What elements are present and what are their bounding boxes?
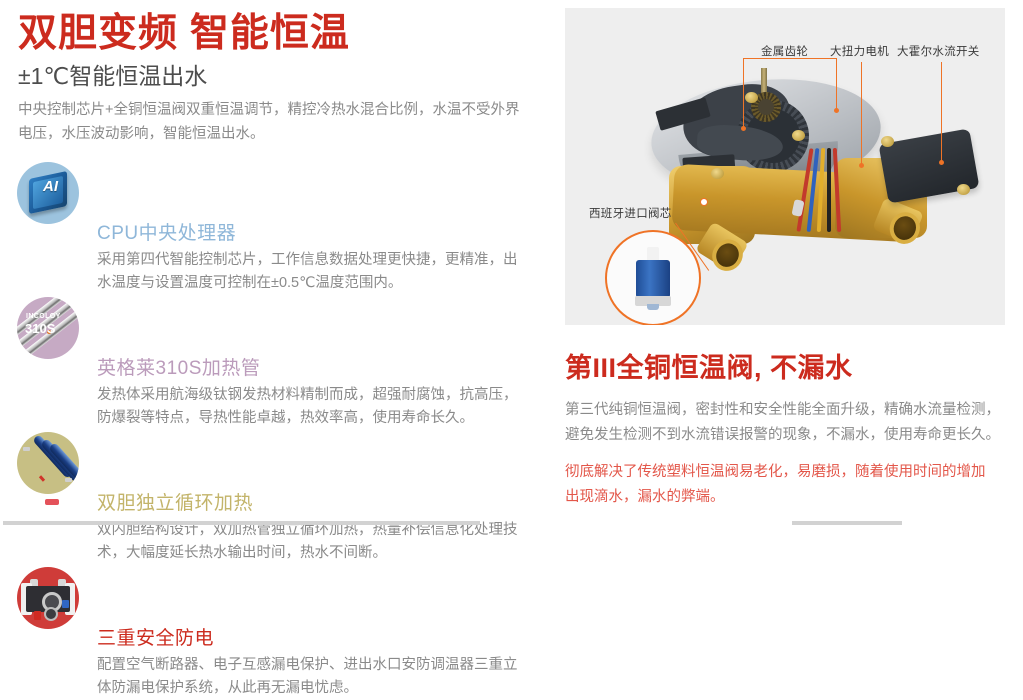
photo-artwork: 金属齿轮 大扭力电机 大霍尔水流开关 西班牙进口阀芯 bbox=[565, 8, 1005, 325]
valve-cartridge-part bbox=[636, 247, 670, 309]
water-heater-unit-icon bbox=[17, 567, 79, 629]
next-section-red-marker bbox=[45, 499, 59, 505]
cpu-icon-ai-label: AI bbox=[43, 178, 58, 195]
list-item-body: 三重安全防电 配置空气断路器、电子互感漏电保护、进出水口安防调温器三重立体防漏电… bbox=[97, 627, 545, 700]
callout-dot-high-torque-motor bbox=[859, 163, 864, 168]
list-item-body: CPU中央处理器 采用第四代智能控制芯片，工作信息数据处理更快捷，更精准，出水温… bbox=[97, 222, 545, 295]
list-item: 三重安全防电 配置空气断路器、电子互感漏电保护、进出水口安防调温器三重立体防漏电… bbox=[0, 565, 545, 700]
callout-leader-hall-flow-switch bbox=[941, 62, 942, 162]
feature-title: 双胆独立循环加热 bbox=[97, 492, 523, 516]
feature-title: CPU中央处理器 bbox=[97, 222, 523, 246]
callout-label-metal-gear: 金属齿轮 bbox=[761, 43, 808, 59]
next-section-strip bbox=[3, 521, 480, 525]
callout-label-hall-flow-switch: 大霍尔水流开关 bbox=[897, 43, 980, 59]
screw-part bbox=[792, 130, 805, 141]
thermostatic-valve-photo: 金属齿轮 大扭力电机 大霍尔水流开关 西班牙进口阀芯 bbox=[565, 8, 1005, 325]
screw-part bbox=[745, 92, 758, 103]
right-content-column: 金属齿轮 大扭力电机 大霍尔水流开关 西班牙进口阀芯 bbox=[545, 0, 1023, 525]
callout-label-high-torque-motor: 大扭力电机 bbox=[830, 43, 889, 59]
list-item: AI CPU中央处理器 采用第四代智能控制芯片，工作信息数据处理更快捷，更精准，… bbox=[0, 160, 545, 295]
dual-tank-tubes-icon bbox=[17, 432, 79, 494]
callout-bracket-metal-gear bbox=[743, 58, 837, 59]
right-section-description: 第三代纯铜恒温阀，密封性和安全性能全面升级，精确水流量检测，避免发生检测不到水流… bbox=[565, 398, 1005, 448]
feature-title: 三重安全防电 bbox=[97, 627, 523, 651]
feature-description: 发热体采用航海级钛钢发热材料精制而成，超强耐腐蚀，抗高压，防爆裂等特点，导热性能… bbox=[97, 384, 523, 430]
incoloy-icon-brand-label: INCOLOY bbox=[26, 313, 61, 320]
callout-dot-metal-gear-right bbox=[834, 108, 839, 113]
product-detail-page: 双胆变频 智能恒温 ±1℃智能恒温出水 中央控制芯片+全铜恒温阀双重恒温调节，精… bbox=[0, 0, 1023, 525]
feature-description: 采用第四代智能控制芯片，工作信息数据处理更快捷，更精准，出水温度与设置温度可控制… bbox=[97, 249, 523, 295]
callout-dot-hall-flow-switch bbox=[939, 160, 944, 165]
page-subtitle: ±1℃智能恒温出水 bbox=[18, 62, 207, 90]
list-item-body: 双胆独立循环加热 双内胆结构设计，双加热管独立循环加热，热量补偿信息化处理技术，… bbox=[97, 492, 545, 565]
list-item: 双胆独立循环加热 双内胆结构设计，双加热管独立循环加热，热量补偿信息化处理技术，… bbox=[0, 430, 545, 565]
feature-list: AI CPU中央处理器 采用第四代智能控制芯片，工作信息数据处理更快捷，更精准，… bbox=[0, 160, 545, 700]
screw-part bbox=[881, 136, 894, 147]
left-content-column: 双胆变频 智能恒温 ±1℃智能恒温出水 中央控制芯片+全铜恒温阀双重恒温调节，精… bbox=[0, 0, 545, 525]
callout-leader-metal-gear-left bbox=[743, 58, 744, 128]
right-section-title: 第III全铜恒温阀, 不漏水 bbox=[565, 352, 853, 384]
intro-paragraph: 中央控制芯片+全铜恒温阀双重恒温调节，精控冷热水混合比例，水温不受外界电压，水压… bbox=[18, 98, 523, 146]
list-item: INCOLOY 310S 英格莱310S加热管 发热体采用航海级钛钢发热材料精制… bbox=[0, 295, 545, 430]
callout-dot-spanish-valve-cartridge bbox=[700, 198, 708, 206]
callout-label-spanish-valve-cartridge: 西班牙进口阀芯 bbox=[589, 205, 672, 221]
valve-cartridge-inset bbox=[605, 230, 701, 325]
list-item-body: 英格莱310S加热管 发热体采用航海级钛钢发热材料精制而成，超强耐腐蚀，抗高压，… bbox=[97, 357, 545, 430]
callout-leader-metal-gear-right bbox=[836, 58, 837, 110]
right-section-warning: 彻底解决了传统塑料恒温阀易老化，易磨损，随着使用时间的增加出现滴水，漏水的弊端。 bbox=[565, 460, 995, 510]
feature-description: 配置空气断路器、电子互感漏电保护、进出水口安防调温器三重立体防漏电保护系统，从此… bbox=[97, 654, 523, 700]
next-section-strip bbox=[792, 521, 902, 525]
feature-description: 双内胆结构设计，双加热管独立循环加热，热量补偿信息化处理技术，大幅度延长热水输出… bbox=[97, 519, 523, 565]
incoloy-tube-icon: INCOLOY 310S bbox=[17, 297, 79, 359]
callout-dot-metal-gear-left bbox=[741, 126, 746, 131]
incoloy-icon-model-label: 310S bbox=[25, 321, 55, 336]
feature-title: 英格莱310S加热管 bbox=[97, 357, 523, 381]
screw-part bbox=[957, 184, 970, 195]
cpu-chip-icon: AI bbox=[17, 162, 79, 224]
screw-part bbox=[711, 168, 724, 179]
page-title: 双胆变频 智能恒温 bbox=[18, 12, 350, 56]
callout-leader-high-torque-motor bbox=[861, 62, 862, 165]
